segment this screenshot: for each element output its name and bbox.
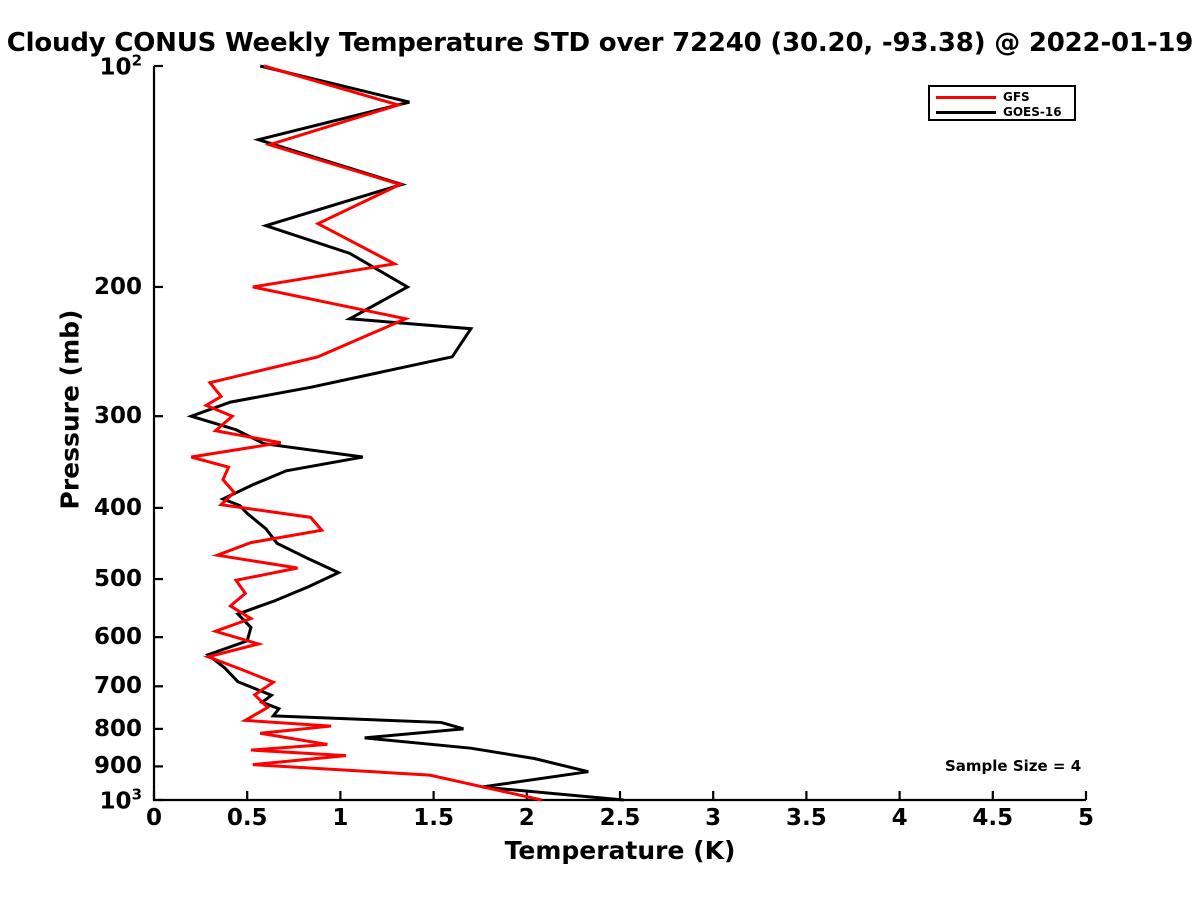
sample-size-annotation: Sample Size = 4 [945, 757, 1081, 775]
legend-label-goes16: GOES-16 [1003, 106, 1062, 118]
legend-swatch-gfs [936, 96, 996, 99]
x-tick-label: 0.5 [227, 805, 268, 831]
legend-item-goes16: GOES-16 [936, 105, 1062, 119]
x-tick-label: 4.5 [972, 805, 1013, 831]
y-tick-label: 300 [20, 403, 142, 429]
figure-canvas: Cloudy CONUS Weekly Temperature STD over… [0, 0, 1200, 900]
y-tick-label: 400 [20, 495, 142, 521]
legend-swatch-goes16 [936, 111, 996, 114]
x-tick-label: 4 [892, 805, 908, 831]
legend: GFS GOES-16 [928, 85, 1076, 121]
axis-spines [154, 66, 1086, 800]
x-tick-label: 2 [519, 805, 535, 831]
y-tick-label: 102 [20, 52, 142, 81]
y-tick-label: 900 [20, 753, 142, 779]
legend-item-gfs: GFS [936, 90, 1030, 104]
x-tick-label: 5 [1078, 805, 1094, 831]
x-tick-label: 2.5 [600, 805, 641, 831]
x-tick-label: 1.5 [413, 805, 454, 831]
y-tick-label: 700 [20, 673, 142, 699]
y-tick-label: 800 [20, 716, 142, 742]
series-line-goes-16 [191, 66, 623, 800]
y-tick-label: 600 [20, 624, 142, 650]
x-tick-label: 3 [705, 805, 721, 831]
x-tick-label: 0 [146, 805, 162, 831]
y-tick-label: 200 [20, 274, 142, 300]
x-axis-label: Temperature (K) [154, 836, 1086, 865]
y-tick-label: 103 [20, 786, 142, 815]
legend-label-gfs: GFS [1003, 91, 1030, 103]
y-tick-label: 500 [20, 566, 142, 592]
x-tick-label: 3.5 [786, 805, 827, 831]
x-tick-label: 1 [332, 805, 348, 831]
